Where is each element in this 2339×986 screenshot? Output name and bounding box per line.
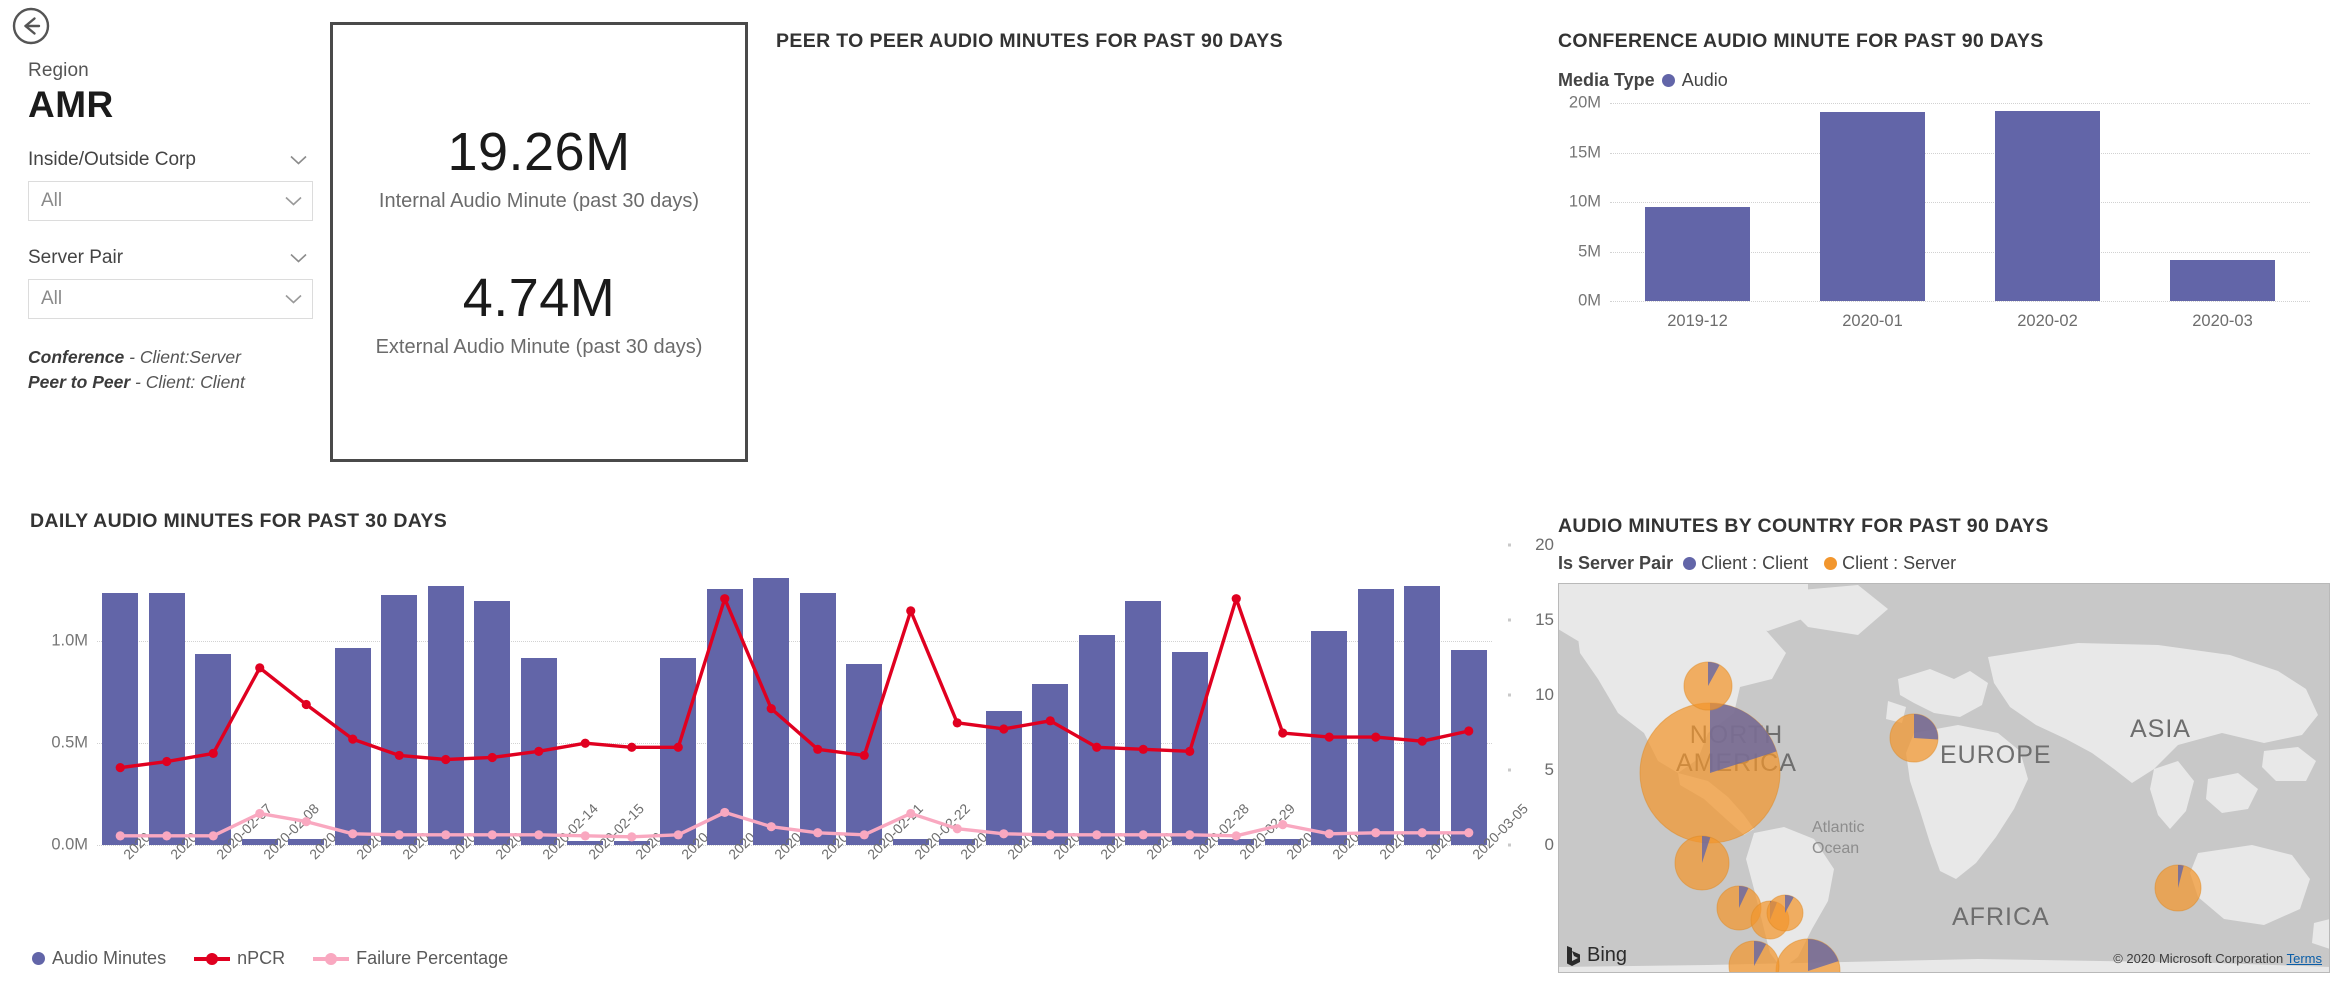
x-axis-tick: 2019-12 [1667, 312, 1728, 331]
bubble-client-client-slice [1914, 714, 1938, 740]
note-desc: - Client: Client [130, 372, 245, 392]
chevron-down-icon[interactable] [290, 155, 307, 165]
bing-label: Bing [1587, 944, 1627, 967]
data-point[interactable] [627, 743, 636, 752]
legend-label-audio[interactable]: Audio [1682, 70, 1728, 91]
data-point[interactable] [302, 700, 311, 709]
legend-item[interactable]: nPCR [194, 948, 285, 969]
data-point[interactable] [1139, 745, 1148, 754]
data-point[interactable] [767, 822, 776, 831]
kpi-value: 4.74M [376, 271, 703, 325]
kpi-card: 19.26M Internal Audio Minute (past 30 da… [330, 22, 748, 462]
data-point[interactable] [813, 828, 822, 837]
data-point[interactable] [1371, 733, 1380, 742]
legend-label: Client : Server [1842, 553, 1956, 574]
note-term: Peer to Peer [28, 372, 130, 392]
axis-tick-mark [1508, 844, 1511, 847]
data-point[interactable] [720, 594, 729, 603]
gridline [1610, 301, 2310, 302]
data-point[interactable] [860, 751, 869, 760]
conference-bar-chart[interactable]: 20M15M10M5M0M2019-122020-012020-022020-0… [1610, 103, 2310, 301]
y-axis-tick: 0.5M [51, 734, 88, 753]
slicer-header[interactable]: Inside/Outside Corp [28, 149, 313, 171]
bing-icon [1566, 945, 1582, 967]
data-point[interactable] [1232, 831, 1241, 840]
legend-swatch [1824, 557, 1837, 570]
data-point[interactable] [348, 829, 357, 838]
chevron-down-icon[interactable] [285, 294, 302, 304]
data-point[interactable] [1371, 828, 1380, 837]
region-value: AMR [28, 84, 313, 127]
data-point[interactable] [1325, 733, 1334, 742]
axis-tick-mark [1508, 694, 1511, 697]
axis-tick-label: 5 [1545, 760, 1554, 780]
map-bubble-layer[interactable]: United StatesChileBrazilMexicoPeruCanada… [1558, 583, 2330, 973]
conference-chart-title: CONFERENCE AUDIO MINUTE FOR PAST 90 DAYS [1558, 30, 2044, 53]
axis-tick-label: 10 [1535, 685, 1554, 705]
legend-swatch [313, 952, 349, 965]
data-point[interactable] [1232, 594, 1241, 603]
bar[interactable] [1995, 111, 2100, 301]
bar[interactable] [1820, 112, 1925, 301]
axis-tick-label: 15 [1535, 610, 1554, 630]
slicer-title: Inside/Outside Corp [28, 149, 196, 171]
data-point[interactable] [116, 831, 125, 840]
legend-item[interactable]: Failure Percentage [313, 948, 508, 969]
daily-chart-title: DAILY AUDIO MINUTES FOR PAST 30 DAYS [30, 510, 447, 533]
slicer-value: All [41, 288, 62, 310]
p2p-chart-title: PEER TO PEER AUDIO MINUTES FOR PAST 90 D… [776, 30, 1283, 53]
data-point[interactable] [1185, 830, 1194, 839]
data-point[interactable] [999, 724, 1008, 733]
legend-swatch [1683, 557, 1696, 570]
map-bubble[interactable]: United States [1640, 703, 1780, 843]
data-point[interactable] [1278, 820, 1287, 829]
kpi-label: External Audio Minute (past 30 days) [376, 336, 703, 359]
conference-legend: Media Type Audio [1558, 70, 1728, 91]
slicer-value: All [41, 190, 62, 212]
legend-swatch [194, 952, 230, 965]
data-point[interactable] [534, 747, 543, 756]
x-axis-tick: 2020-01 [1842, 312, 1903, 331]
data-point[interactable] [581, 739, 590, 748]
data-point[interactable] [720, 808, 729, 817]
map-bubble[interactable]: United Kingdom [1890, 714, 1938, 762]
map-attribution: © 2020 Microsoft Corporation Terms [2113, 951, 2322, 966]
data-point[interactable] [953, 824, 962, 833]
data-point[interactable] [767, 704, 776, 713]
x-axis-tick: 2020-02 [2017, 312, 2078, 331]
data-point[interactable] [1092, 830, 1101, 839]
x-axis-tick: 2020-03 [2192, 312, 2253, 331]
map-copyright: © 2020 Microsoft Corporation [2113, 951, 2283, 966]
data-point[interactable] [906, 809, 915, 818]
data-point[interactable] [395, 751, 404, 760]
y-axis-tick: 1.0M [51, 632, 88, 651]
data-point[interactable] [1046, 716, 1055, 725]
legend-label: nPCR [237, 948, 285, 969]
map-bubble[interactable]: Peru [1729, 941, 1779, 973]
kpi-external-audio: 4.74M External Audio Minute (past 30 day… [376, 271, 703, 359]
definitions-note: Conference - Client:Server Peer to Peer … [28, 345, 313, 396]
map-axis-ticks: 20151050 [1508, 545, 1554, 845]
map-bubble[interactable]: Canada [1684, 662, 1732, 710]
gridline [1610, 103, 2310, 104]
daily-combo-chart[interactable]: 1.0M0.5M0.0M2020-02-052020-02-062020-02-… [97, 560, 1492, 845]
line-npcr[interactable] [120, 599, 1469, 768]
data-point[interactable] [1278, 728, 1287, 737]
y-axis-tick: 10M [1569, 193, 1601, 212]
data-point[interactable] [255, 809, 264, 818]
data-point[interactable] [953, 718, 962, 727]
data-point[interactable] [488, 753, 497, 762]
legend-item-client-client[interactable]: Client : Client [1683, 553, 1808, 574]
map-title: AUDIO MINUTES BY COUNTRY FOR PAST 90 DAY… [1558, 515, 2049, 538]
data-point[interactable] [395, 830, 404, 839]
slicer-dropdown[interactable]: All [28, 181, 313, 221]
legend-label: Audio Minutes [52, 948, 166, 969]
axis-tick-label: 20 [1535, 535, 1554, 555]
data-point[interactable] [1046, 830, 1055, 839]
slicer-server-pair[interactable]: Server Pair All [28, 247, 313, 319]
y-axis-tick: 0.0M [51, 836, 88, 855]
map-bubble[interactable]: Brazil [1776, 939, 1840, 973]
legend-swatch-audio[interactable] [1662, 74, 1675, 87]
back-arrow-icon[interactable] [10, 5, 52, 47]
data-point[interactable] [441, 755, 450, 764]
kpi-internal-audio: 19.26M Internal Audio Minute (past 30 da… [379, 125, 699, 213]
axis-tick-mark [1508, 769, 1511, 772]
legend-label: Client : Client [1701, 553, 1808, 574]
map-legend: Is Server Pair Client : Client Client : … [1558, 553, 1966, 574]
bing-map[interactable]: NORTH AMERICA SOUTH AMERICA EUROPE AFRIC… [1558, 583, 2330, 973]
dashboard-page: Region AMR Inside/Outside Corp All Serve… [0, 0, 2339, 986]
data-point[interactable] [1325, 829, 1334, 838]
legend-swatch [32, 952, 45, 965]
gridline [1610, 202, 2310, 203]
data-point[interactable] [348, 735, 357, 744]
y-axis-tick: 0M [1578, 292, 1601, 311]
data-point[interactable] [860, 830, 869, 839]
legend-title: Media Type [1558, 70, 1655, 91]
data-point[interactable] [813, 745, 822, 754]
map-bubble[interactable]: India [2155, 865, 2201, 911]
bing-logo[interactable]: Bing [1566, 944, 1627, 967]
legend-title: Is Server Pair [1558, 553, 1673, 574]
slicer-title: Server Pair [28, 247, 123, 269]
line-series-layer [97, 560, 1492, 845]
data-point[interactable] [116, 763, 125, 772]
region-label: Region [28, 60, 313, 82]
data-point[interactable] [209, 749, 218, 758]
axis-tick-label: 0 [1545, 835, 1554, 855]
data-point[interactable] [255, 663, 264, 672]
legend-item-client-server[interactable]: Client : Server [1824, 553, 1956, 574]
axis-tick-mark [1508, 619, 1511, 622]
data-point[interactable] [999, 829, 1008, 838]
data-point[interactable] [1418, 737, 1427, 746]
y-axis-tick: 5M [1578, 242, 1601, 261]
bar[interactable] [2170, 260, 2275, 301]
y-axis-tick: 15M [1569, 143, 1601, 162]
filter-panel: Region AMR Inside/Outside Corp All Serve… [28, 60, 313, 395]
bar[interactable] [1645, 207, 1750, 301]
map-bubble[interactable]: Colombia [1767, 895, 1803, 931]
data-point[interactable] [534, 830, 543, 839]
data-point[interactable] [1092, 743, 1101, 752]
data-point[interactable] [1418, 828, 1427, 837]
data-point[interactable] [1464, 828, 1473, 837]
data-point[interactable] [627, 832, 636, 841]
data-point[interactable] [441, 830, 450, 839]
line-failure-percentage[interactable] [120, 812, 1469, 836]
y-axis-tick: 20M [1569, 94, 1601, 113]
legend-item[interactable]: Audio Minutes [32, 948, 166, 969]
kpi-label: Internal Audio Minute (past 30 days) [379, 190, 699, 213]
note-desc: - Client:Server [124, 347, 241, 367]
data-point[interactable] [1185, 747, 1194, 756]
data-point[interactable] [674, 830, 683, 839]
legend-label: Failure Percentage [356, 948, 508, 969]
slicer-header[interactable]: Server Pair [28, 247, 313, 269]
data-point[interactable] [488, 830, 497, 839]
data-point[interactable] [162, 757, 171, 766]
map-terms-link[interactable]: Terms [2287, 951, 2322, 966]
chevron-down-icon[interactable] [290, 253, 307, 263]
data-point[interactable] [162, 831, 171, 840]
data-point[interactable] [302, 817, 311, 826]
slicer-inside-outside-corp[interactable]: Inside/Outside Corp All [28, 149, 313, 221]
note-term: Conference [28, 347, 124, 367]
data-point[interactable] [674, 743, 683, 752]
daily-chart-legend: Audio MinutesnPCRFailure Percentage [32, 948, 524, 969]
data-point[interactable] [906, 606, 915, 615]
data-point[interactable] [1464, 726, 1473, 735]
data-point[interactable] [581, 831, 590, 840]
kpi-value: 19.26M [379, 125, 699, 179]
slicer-dropdown[interactable]: All [28, 279, 313, 319]
map-bubble[interactable]: Mexico [1675, 836, 1729, 890]
data-point[interactable] [1139, 830, 1148, 839]
gridline [1610, 153, 2310, 154]
chevron-down-icon[interactable] [285, 196, 302, 206]
data-point[interactable] [209, 831, 218, 840]
axis-tick-mark [1508, 544, 1511, 547]
